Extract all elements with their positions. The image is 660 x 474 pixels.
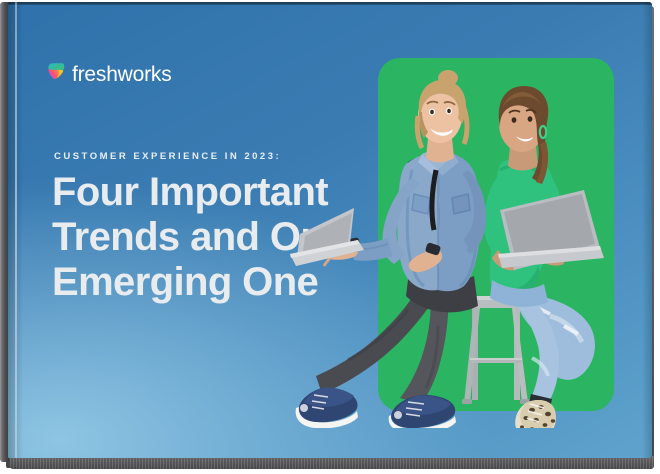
headline-line-3: Emerging One <box>52 260 392 305</box>
headline-line-1: Four Important <box>52 170 392 215</box>
freshworks-logo-icon <box>46 62 65 86</box>
brand-wordmark: freshworks <box>72 64 172 85</box>
cover-hinge-highlight <box>15 2 17 458</box>
cover-right-shadow <box>642 2 652 458</box>
cover-headline: Four Important Trends and One Emerging O… <box>52 170 392 304</box>
navy-sneaker-left <box>296 388 358 428</box>
cover-top-edge <box>8 2 652 5</box>
headline-line-2: Trends and One <box>52 215 392 260</box>
cover-face: freshworks CUSTOMER EXPERIENCE IN 2023: … <box>8 2 652 458</box>
photo-panel-green <box>378 58 614 411</box>
eyebrow-text: CUSTOMER EXPERIENCE IN 2023: <box>54 152 281 162</box>
ebook-cover-mockup: freshworks CUSTOMER EXPERIENCE IN 2023: … <box>0 0 660 474</box>
brand-logo: freshworks <box>46 62 172 86</box>
